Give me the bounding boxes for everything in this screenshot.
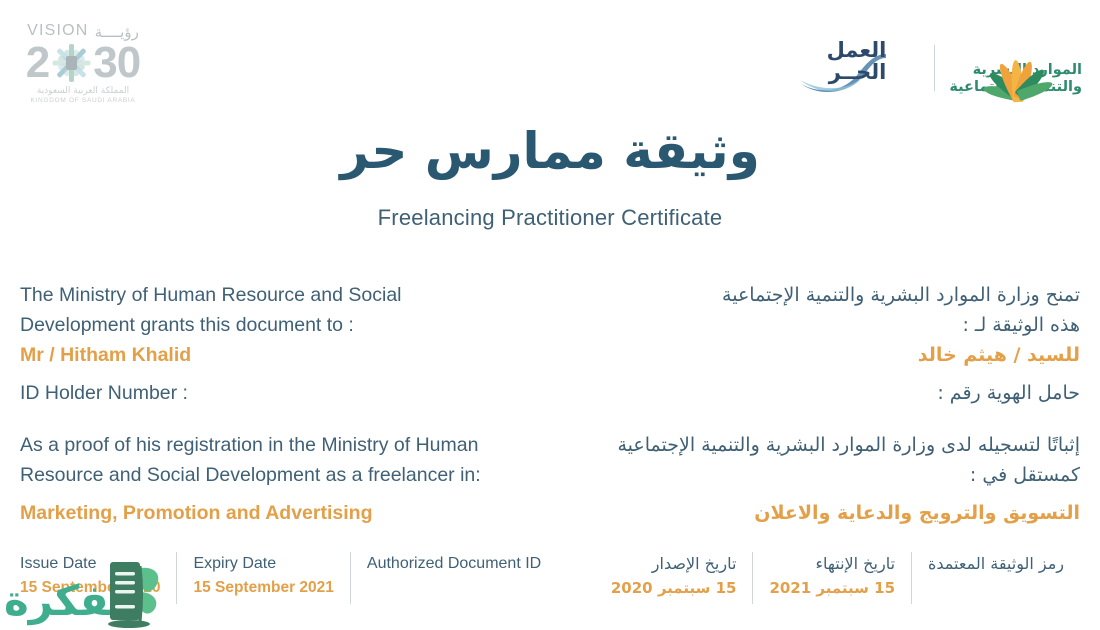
id-holder-label-en: ID Holder Number : <box>20 378 540 408</box>
site-watermark: مفكرة <box>4 556 172 630</box>
vision-wordmark: VISION رؤيــــة <box>18 20 148 40</box>
ministry-header-block: العمل الحــر الموارد البشرية والتنمية ال… <box>800 12 1082 96</box>
footer-document-id-en: Authorized Document ID <box>351 552 557 576</box>
certificate-title-english: Freelancing Practitioner Certificate <box>0 205 1100 231</box>
footer-separator-2-ar <box>911 552 912 604</box>
body-english: The Ministry of Human Resource and Socia… <box>20 280 540 528</box>
vision-digit-left: 2 <box>26 42 49 84</box>
footer-document-id-ar: رمز الوثيقة المعتمدة <box>912 552 1080 576</box>
expiry-date-label-en: Expiry Date <box>193 552 333 576</box>
expiry-date-value-ar: 15 سبتمبر 2021 <box>769 576 895 600</box>
proof-line-2-en: Resource and Social Development as a fre… <box>20 460 540 490</box>
vision-subtitle-arabic: المملكة العربية السعودية <box>18 86 148 96</box>
footer-expiry-date-en: Expiry Date 15 September 2021 <box>177 552 349 600</box>
vision-arabic-word: رؤيــــة <box>95 23 139 41</box>
proof-line-2-ar: كمستقل في : <box>580 460 1080 490</box>
ministry-logo: الموارد البشرية والتنمية الاجتماعية <box>949 12 1082 96</box>
issue-date-label-ar: تاريخ الإصدار <box>611 552 737 576</box>
grant-line-1-en: The Ministry of Human Resource and Socia… <box>20 280 540 310</box>
freelance-word-line2: الحــر <box>829 60 887 84</box>
footer-arabic: تاريخ الإصدار 15 سبتمبر 2020 تاريخ الإنت… <box>595 552 1080 604</box>
document-leaf-icon <box>96 558 170 630</box>
vision-subtitle-english: KINGDOM OF SAUDI ARABIA <box>18 97 148 104</box>
holder-name-ar: للسيد / هيثم خالد <box>580 340 1080 370</box>
proof-line-1-en: As a proof of his registration in the Mi… <box>20 430 540 460</box>
grant-line-1-ar: تمنح وزارة الموارد البشرية والتنمية الإج… <box>580 280 1080 310</box>
profession-en: Marketing, Promotion and Advertising <box>20 498 540 528</box>
id-holder-label-ar: حامل الهوية رقم : <box>580 378 1080 408</box>
footer-separator-1-ar <box>752 552 753 604</box>
grant-line-2-ar: هذه الوثيقة لـ : <box>580 310 1080 340</box>
vision-number: 2 30 <box>18 41 148 85</box>
freelance-logo: العمل الحــر <box>800 36 920 94</box>
certificate-title-arabic: وثيقة ممارس حر <box>0 122 1100 180</box>
holder-name-en: Mr / Hitham Khalid <box>20 340 540 370</box>
body-arabic: تمنح وزارة الموارد البشرية والتنمية الإج… <box>580 280 1080 528</box>
certificate-page: VISION رؤيــــة 2 30 المملكة العربية الس… <box>0 0 1100 630</box>
expiry-date-label-ar: تاريخ الإنتهاء <box>769 552 895 576</box>
footer-issue-date-ar: تاريخ الإصدار 15 سبتمبر 2020 <box>595 552 753 600</box>
ministry-palm-star-emblem-icon <box>982 12 1054 60</box>
certificate-header: VISION رؤيــــة 2 30 المملكة العربية الس… <box>0 0 1100 120</box>
authorized-document-id-label-en: Authorized Document ID <box>367 552 541 576</box>
authorized-document-id-label-ar: رمز الوثيقة المعتمدة <box>928 552 1064 576</box>
footer-expiry-date-ar: تاريخ الإنتهاء 15 سبتمبر 2021 <box>753 552 911 600</box>
proof-line-1-ar: إثباتًا لتسجيله لدى وزارة الموارد البشري… <box>580 430 1080 460</box>
grant-line-2-en: Development grants this document to : <box>20 310 540 340</box>
profession-ar: التسويق والترويج والدعاية والاعلان <box>580 498 1080 528</box>
freelance-word-line1: العمل <box>827 38 887 62</box>
vision-2030-emblem-icon <box>50 42 92 84</box>
header-divider <box>934 45 935 91</box>
expiry-date-value-en: 15 September 2021 <box>193 576 333 600</box>
issue-date-value-ar: 15 سبتمبر 2020 <box>611 576 737 600</box>
vision-digit-right: 30 <box>93 42 140 84</box>
vision-2030-logo: VISION رؤيــــة 2 30 المملكة العربية الس… <box>18 20 148 108</box>
